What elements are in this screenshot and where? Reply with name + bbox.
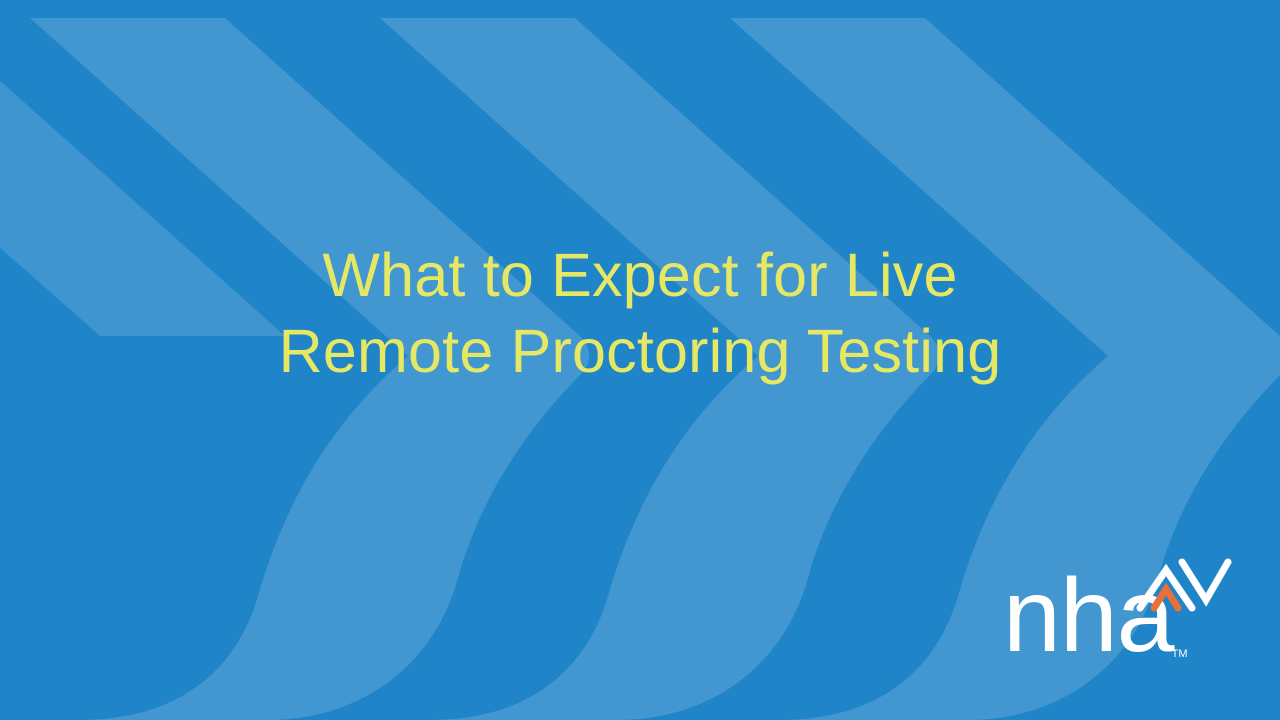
nha-chevron-mark-icon bbox=[1136, 556, 1232, 614]
trademark-symbol: TM bbox=[1172, 648, 1188, 660]
nha-logo: nha TM bbox=[1003, 556, 1233, 668]
presentation-slide: What to Expect for Live Remote Proctorin… bbox=[0, 0, 1280, 720]
